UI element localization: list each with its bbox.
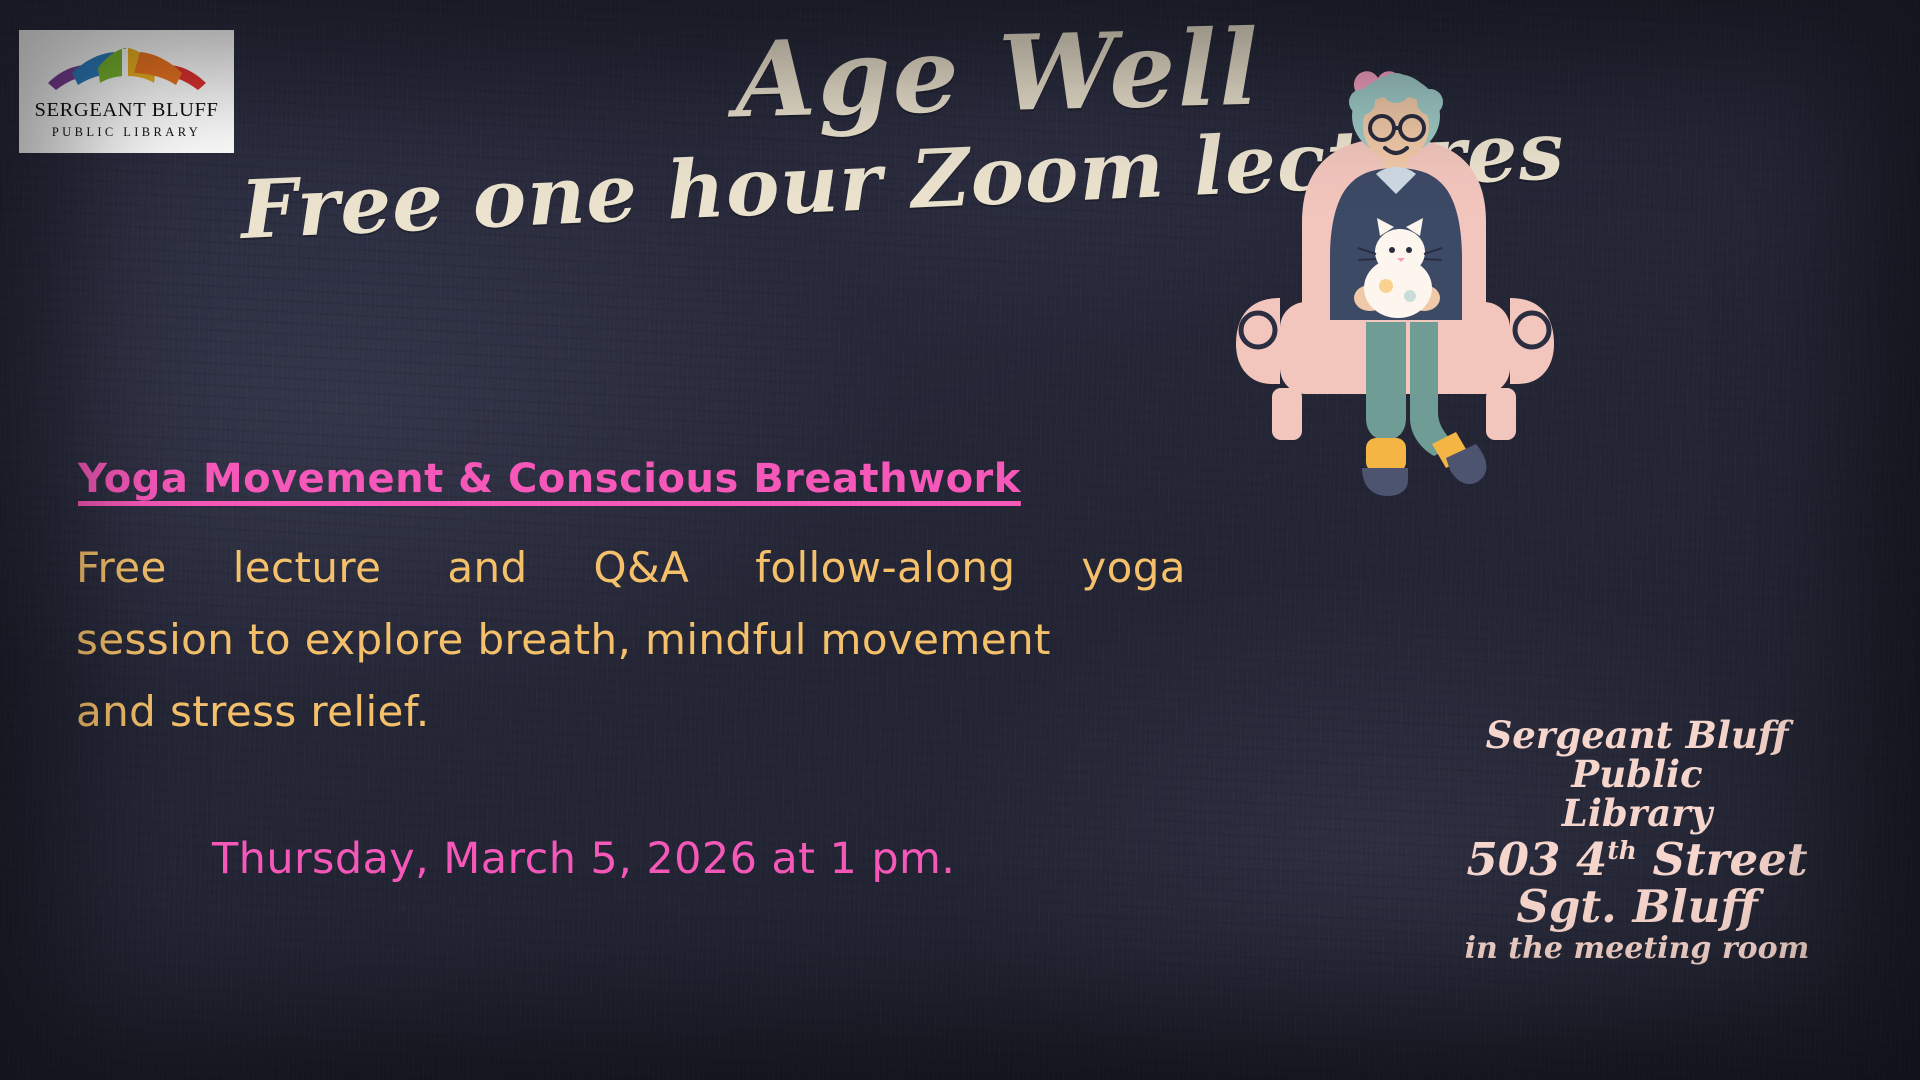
event-date-time: Thursday, March 5, 2026 at 1 pm. — [212, 838, 955, 881]
poster-canvas: SERGEANT BLUFF PUBLIC LIBRARY Age Well F… — [0, 0, 1920, 1080]
venue-address: Sergeant Bluff Public Library 503 4th St… — [1422, 716, 1852, 965]
description-line-1: Free lecture and Q&A follow-along yoga — [76, 532, 1186, 604]
logo-library-subtitle: PUBLIC LIBRARY — [52, 125, 201, 140]
address-line-1: Sergeant Bluff Public — [1422, 716, 1852, 794]
library-logo: SERGEANT BLUFF PUBLIC LIBRARY — [19, 30, 234, 153]
poster-title: Age Well — [734, 16, 1262, 133]
address-line-2: Library — [1422, 794, 1852, 833]
description-line-2: session to explore breath, mindful movem… — [76, 604, 1186, 676]
address-line-3: 503 4th Street — [1422, 836, 1852, 884]
address-line-5: in the meeting room — [1422, 933, 1852, 965]
description-line-3: and stress relief. — [76, 676, 1186, 748]
open-book-rainbow-icon — [42, 43, 212, 98]
logo-library-name: SERGEANT BLUFF — [34, 100, 218, 121]
elderly-woman-with-cat-illustration — [1210, 40, 1570, 560]
session-description: Free lecture and Q&A follow-along yoga s… — [76, 532, 1186, 749]
session-heading: Yoga Movement & Conscious Breathwork — [78, 459, 1021, 499]
address-line-4: Sgt. Bluff — [1422, 883, 1852, 931]
